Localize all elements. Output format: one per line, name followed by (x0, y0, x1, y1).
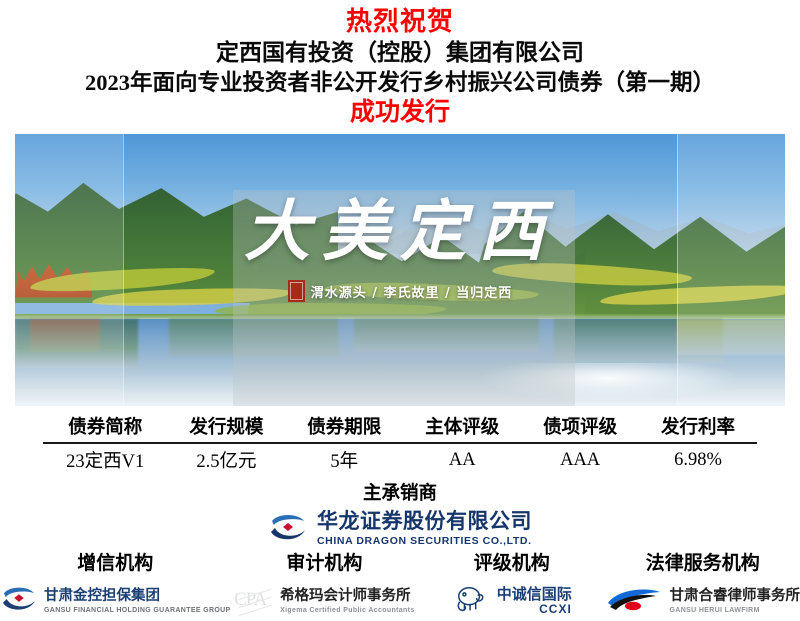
bond-summary-table: 债券简称 发行规模 债券期限 主体评级 债项评级 发行利率 23定西V1 2.5… (43, 412, 757, 474)
institution-name-cn: 中诚信国际 (497, 587, 572, 603)
panel-seam (677, 134, 678, 406)
institution-credit-enhancement: 增信机构 甘肃金控担保集团 GANSU FINANCIAL HOLDING GU… (0, 554, 231, 621)
lead-underwriter-names: 华龙证券股份有限公司 CHINA DRAGON SECURITIES CO.,L… (317, 510, 532, 547)
cell-issuer-rating: AA (403, 443, 521, 474)
institution-name-en: Xigema Certified Public Accountants (280, 607, 415, 614)
cell-bond-abbr: 23定西V1 (43, 443, 167, 474)
water-reflection (30, 319, 99, 352)
cell-coupon-rate: 6.98% (639, 443, 757, 474)
gansu-financial-names: 甘肃金控担保集团 GANSU FINANCIAL HOLDING GUARANT… (44, 589, 231, 614)
institution-label: 评级机构 (474, 554, 550, 575)
service-institutions-row: 增信机构 甘肃金控担保集团 GANSU FINANCIAL HOLDING GU… (0, 554, 800, 621)
lead-underwriter-label: 主承销商 (0, 479, 800, 505)
ccxi-names: 中诚信国际 CCXI (497, 587, 572, 615)
institution-label: 法律服务机构 (646, 554, 760, 575)
bond-full-name: 2023年面向专业投资者非公开发行乡村振兴公司债券（第一期） (0, 68, 800, 97)
herui-names: 甘肃合睿律师事务所 GANSU HERUI LAWFIRM (670, 589, 800, 614)
institution-label: 审计机构 (286, 554, 362, 575)
cloud-reflection (477, 363, 739, 401)
xigema-names: 希格玛会计师事务所 Xigema Certified Public Accoun… (280, 589, 415, 614)
herui-swoosh-icon (606, 586, 664, 616)
table-header-row: 债券简称 发行规模 债券期限 主体评级 债项评级 发行利率 (43, 412, 757, 443)
announcement-header: 热烈祝贺 定西国有投资（控股）集团有限公司 2023年面向专业投资者非公开发行乡… (0, 0, 800, 128)
water-reflection (677, 319, 785, 354)
xigema-logo: CPA 希格玛会计师事务所 Xigema Certified Public Ac… (234, 581, 415, 621)
cell-bond-rating: AAA (521, 443, 639, 474)
institution-name-cn: 甘肃金控担保集团 (44, 589, 231, 605)
cell-bond-term: 5年 (285, 443, 403, 474)
institution-label: 增信机构 (77, 554, 153, 575)
institution-name-cn: 甘肃合睿律师事务所 (670, 589, 800, 605)
column-header-bond-rating: 债项评级 (521, 412, 639, 443)
success-issuance-headline: 成功发行 (0, 98, 800, 129)
column-header-coupon-rate: 发行利率 (639, 412, 757, 443)
herui-logo: 甘肃合睿律师事务所 GANSU HERUI LAWFIRM (606, 581, 800, 621)
dingxi-landscape-banner: 大美定西 渭水源头 / 李氏故里 / 当归定西 (15, 134, 785, 406)
ccxi-logo: 中诚信国际 CCXI (448, 581, 576, 621)
lead-underwriter-name-cn: 华龙证券股份有限公司 (317, 510, 532, 533)
congratulations-headline: 热烈祝贺 (0, 6, 800, 38)
china-dragon-wave-icon (268, 508, 308, 548)
column-header-bond-term: 债券期限 (285, 412, 403, 443)
cell-issue-size: 2.5亿元 (167, 443, 285, 474)
water-reflection (354, 319, 539, 352)
institution-name-cn: 希格玛会计师事务所 (280, 589, 415, 605)
institution-name-en: GANSU HERUI LAWFIRM (670, 607, 800, 614)
table-row: 23定西V1 2.5亿元 5年 AA AAA 6.98% (43, 443, 757, 474)
cpa-mark-icon: CPA (234, 584, 274, 618)
gansu-financial-wave-icon (0, 582, 38, 621)
gansu-financial-logo: 甘肃金控担保集团 GANSU FINANCIAL HOLDING GUARANT… (0, 581, 231, 621)
lead-underwriter-name-en: CHINA DRAGON SECURITIES CO.,LTD. (317, 535, 532, 547)
column-header-issuer-rating: 主体评级 (403, 412, 521, 443)
panel-seam (123, 134, 124, 406)
institution-name-en: GANSU FINANCIAL HOLDING GUARANTEE GROUP (44, 607, 231, 614)
water-reflection (169, 319, 338, 357)
institution-rating-agency: 评级机构 中诚信国际 CCXI (418, 554, 605, 621)
institution-name-en: CCXI (497, 603, 572, 616)
column-header-issue-size: 发行规模 (167, 412, 285, 443)
ccxi-elephant-icon (452, 584, 492, 618)
bond-summary-table-wrap: 债券简称 发行规模 债券期限 主体评级 债项评级 发行利率 23定西V1 2.5… (43, 412, 757, 474)
ccxi-logo-box: 中诚信国际 CCXI (448, 582, 576, 620)
column-header-bond-abbr: 债券简称 (43, 412, 167, 443)
lead-underwriter-logo: 华龙证券股份有限公司 CHINA DRAGON SECURITIES CO.,L… (0, 508, 800, 548)
issuer-name: 定西国有投资（控股）集团有限公司 (0, 38, 800, 68)
institution-legal-services: 法律服务机构 甘肃合睿律师事务所 GANSU HERUI LAWFIRM (606, 554, 800, 621)
institution-auditor: 审计机构 CPA 希格玛会计师事务所 Xigema Certified Publ… (231, 554, 418, 621)
